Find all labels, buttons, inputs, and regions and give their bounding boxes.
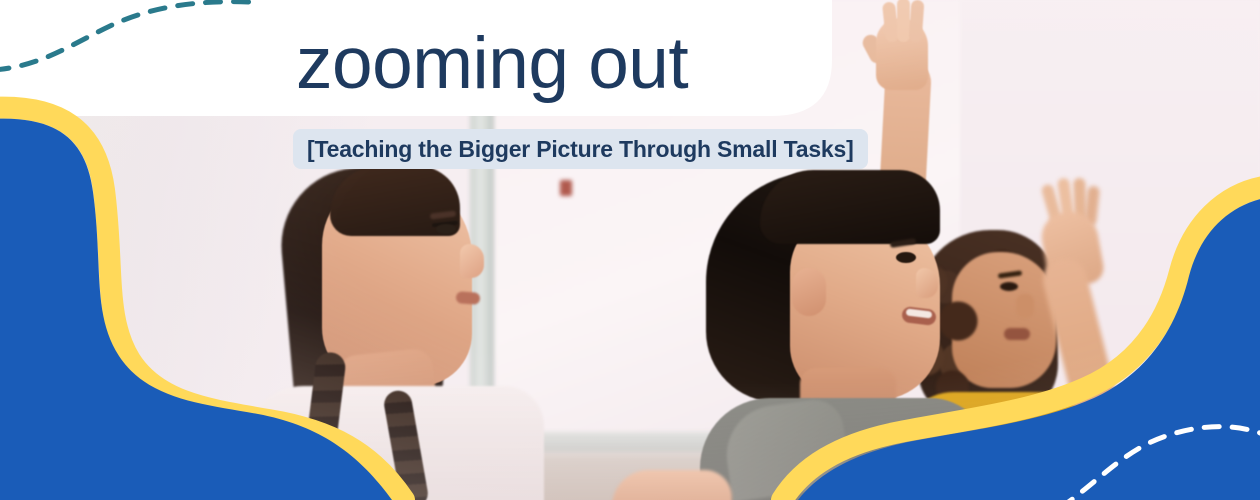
photo-girl-braids-eye (436, 224, 456, 234)
photo-girl-braids-hand (612, 470, 732, 500)
subtitle-pill: [Teaching the Bigger Picture Through Sma… (293, 129, 868, 169)
photo-boy-nose (916, 268, 938, 298)
page-title: zooming out (296, 26, 688, 103)
photo-girl-yellow-mouth (1004, 328, 1030, 340)
photo-boy-eye (896, 252, 916, 263)
photo-boy-fringe (760, 170, 940, 244)
photo-wall-marker (560, 180, 572, 196)
photo-girl-braids-nose (460, 244, 484, 278)
subtitle-text: [Teaching the Bigger Picture Through Sma… (307, 136, 854, 163)
photo-girl-yellow-eye (1000, 282, 1018, 291)
photo-boy-ear (792, 268, 826, 316)
hero-banner: zooming out [Teaching the Bigger Picture… (0, 0, 1260, 500)
photo-girl-braids-lip (456, 291, 481, 305)
photo-girl-yellow-nose (1016, 294, 1034, 318)
